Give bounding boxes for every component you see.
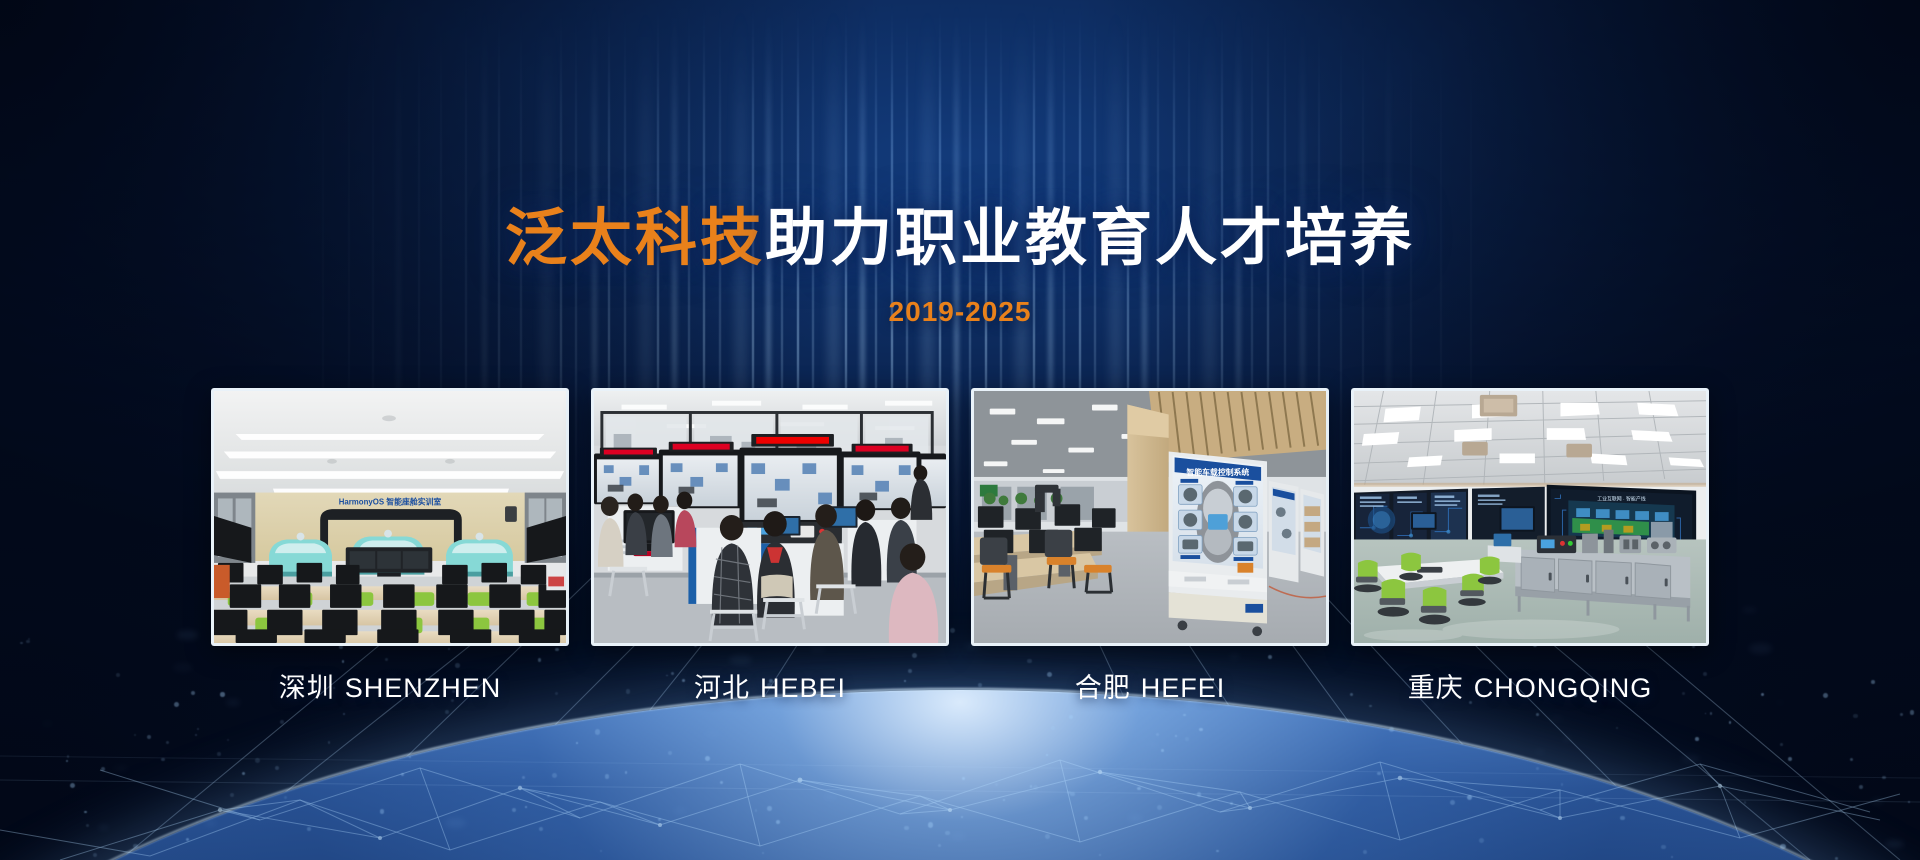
svg-text:工业互联网 · 智能产线: 工业互联网 · 智能产线: [1597, 495, 1645, 502]
location-caption: 河北HEBEI: [591, 666, 949, 705]
location-caption-cn: 重庆: [1408, 673, 1464, 703]
location-caption-cn: 合肥: [1075, 673, 1131, 703]
location-caption: 深圳SHENZHEN: [211, 666, 569, 705]
banner-heading-group: 泛太科技助力职业教育人才培养 2019-2025: [0, 208, 1920, 328]
photo-banner-text: 智能车载控制系统: [1186, 467, 1249, 477]
page-title-rest: 助力职业教育人才培养: [765, 204, 1415, 273]
page-subtitle-years: 2019-2025: [0, 296, 1920, 328]
location-card[interactable]: 河北HEBEI: [591, 388, 949, 705]
hebei-electrical-training-workstations-photo[interactable]: [591, 388, 949, 646]
page-title-highlight: 泛太科技: [505, 204, 765, 273]
location-card-row: HarmonyOS 智能座舱实训室: [0, 388, 1920, 705]
location-card[interactable]: 智能车载控制系统: [971, 388, 1329, 705]
location-caption-en: CHONGQING: [1474, 673, 1653, 703]
page-title: 泛太科技助力职业教育人才培养: [0, 208, 1920, 270]
location-card[interactable]: HarmonyOS 智能座舱实训室: [211, 388, 569, 705]
hefei-smart-vehicle-control-system-lab-photo[interactable]: 智能车载控制系统: [971, 388, 1329, 646]
location-caption: 重庆CHONGQING: [1351, 666, 1709, 705]
banner-stage: 泛太科技助力职业教育人才培养 2019-2025: [0, 0, 1920, 860]
location-card[interactable]: 工业互联网 · 智能产线: [1351, 388, 1709, 705]
location-caption-en: SHENZHEN: [345, 673, 502, 703]
location-caption-en: HEBEI: [760, 673, 846, 703]
location-caption: 合肥HEFEI: [971, 666, 1329, 705]
shenzhen-harmonyos-smart-cockpit-lab-photo[interactable]: HarmonyOS 智能座舱实训室: [211, 388, 569, 646]
location-caption-cn: 深圳: [279, 673, 335, 703]
photo-banner-text: HarmonyOS 智能座舱实训室: [339, 496, 442, 506]
chongqing-automation-production-line-lab-photo[interactable]: 工业互联网 · 智能产线: [1351, 388, 1709, 646]
location-caption-cn: 河北: [694, 673, 750, 703]
location-caption-en: HEFEI: [1141, 673, 1226, 703]
